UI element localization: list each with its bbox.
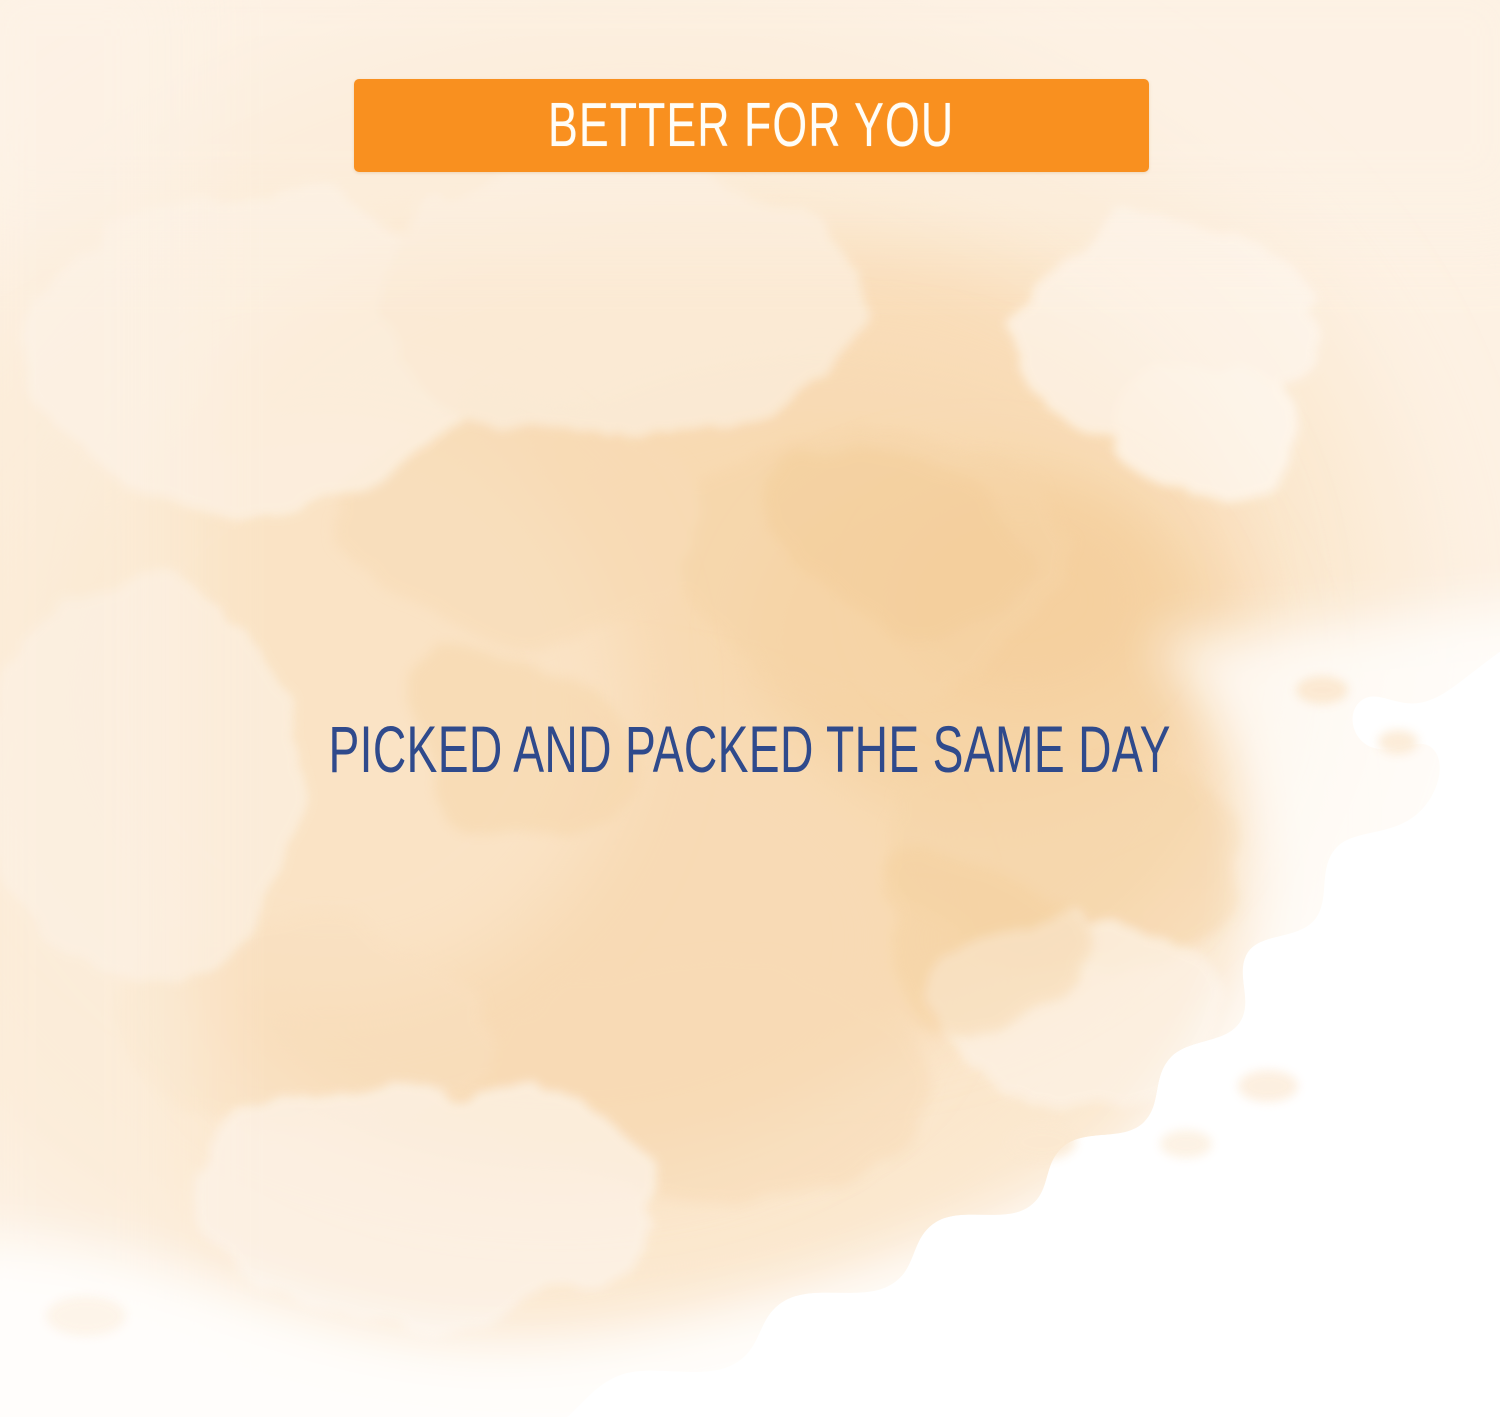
wash-body	[0, 0, 1500, 1417]
paper-base	[0, 0, 1500, 1417]
poster-canvas: BETTER FOR YOU PICKED AND PACKED THE SAM…	[0, 0, 1500, 1417]
banner-label: BETTER FOR YOU	[548, 95, 954, 157]
better-for-you-banner: BETTER FOR YOU	[354, 79, 1149, 172]
watercolor-background	[0, 0, 1500, 1417]
headline-text: PICKED AND PACKED THE SAME DAY	[329, 716, 1171, 782]
headline-row: PICKED AND PACKED THE SAME DAY	[0, 716, 1500, 782]
